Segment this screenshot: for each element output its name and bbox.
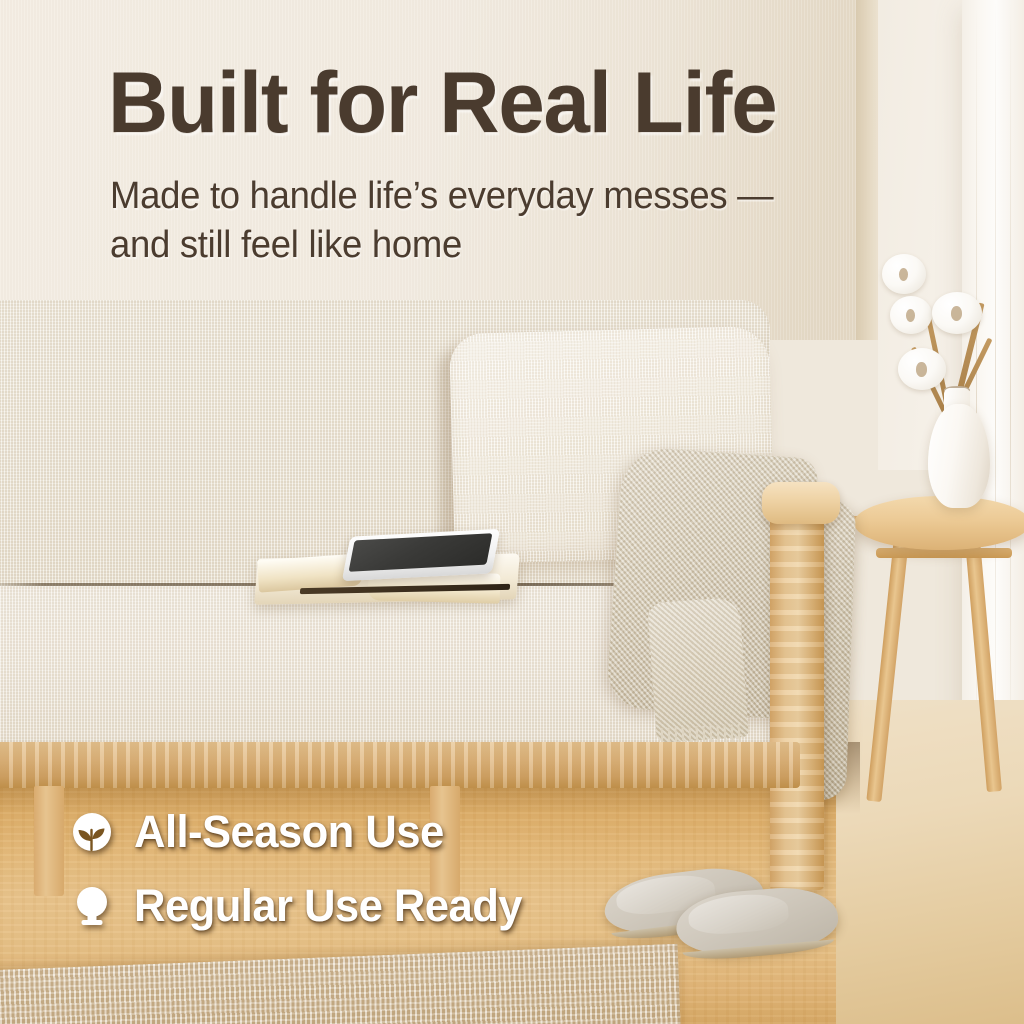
- feature-label-all-season: All-Season Use: [134, 806, 444, 858]
- subheadline-line-2: and still feel like home: [110, 221, 773, 270]
- sofa-base-rail: [0, 742, 800, 788]
- tablet-device: [342, 529, 500, 581]
- sofa-leg: [34, 786, 64, 896]
- ceramic-vase: [928, 404, 990, 508]
- headline: Built for Real Life: [108, 58, 776, 149]
- sheer-curtain: [962, 0, 1024, 800]
- feature-item-regular-use: Regular Use Ready: [70, 880, 534, 932]
- tablet-screen: [349, 533, 493, 572]
- subheadline-line-1: Made to handle life’s everyday messes —: [110, 172, 773, 221]
- lamp-icon: [70, 884, 114, 928]
- feature-list: All-Season Use Regular Use Ready: [70, 806, 534, 932]
- sprout-icon: [70, 810, 114, 854]
- feature-item-all-season: All-Season Use: [70, 806, 534, 858]
- subheadline: Made to handle life’s everyday messes — …: [110, 172, 773, 269]
- feature-label-regular-use: Regular Use Ready: [134, 880, 522, 932]
- product-lifestyle-banner: Built for Real Life Made to handle life’…: [0, 0, 1024, 1024]
- side-table-top: [854, 496, 1024, 550]
- throw-blanket-tail: [647, 597, 749, 743]
- sofa-armrest-cap: [762, 482, 840, 524]
- sofa-arm-post: [770, 498, 824, 890]
